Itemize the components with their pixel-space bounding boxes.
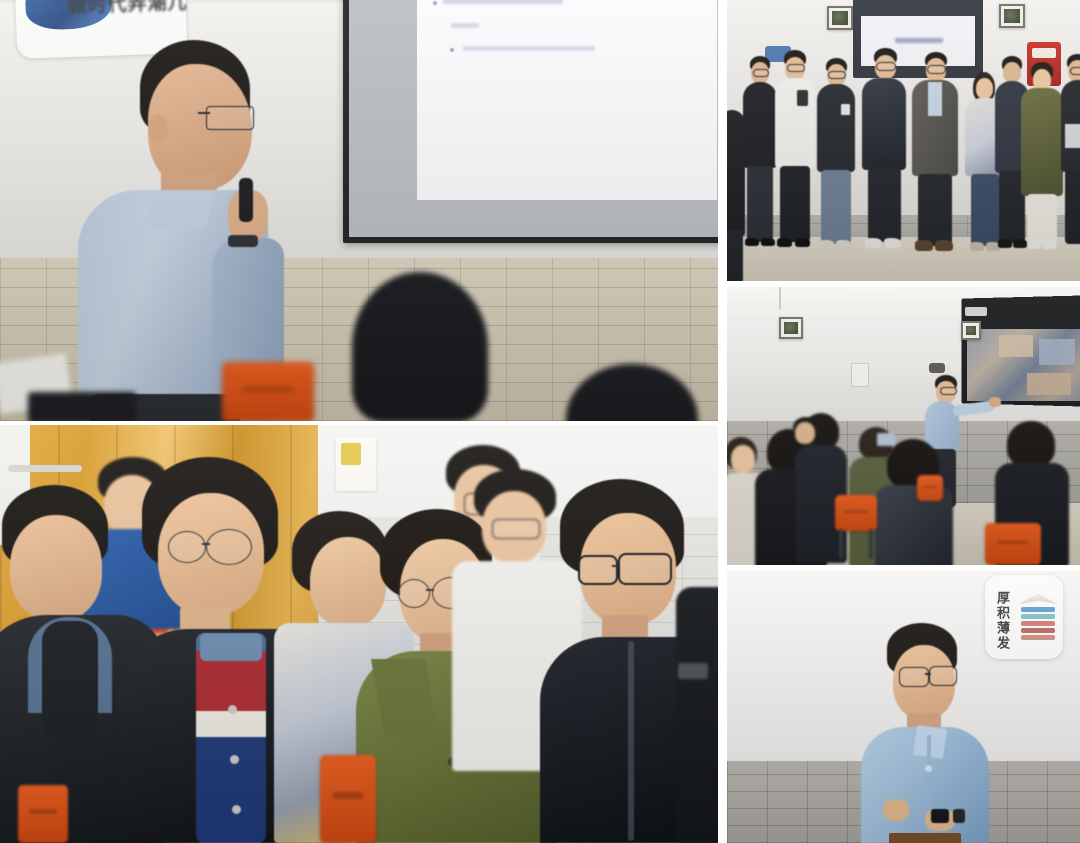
presenter-figure: [56, 22, 356, 421]
presenter-remote: [931, 809, 949, 823]
photo-collage: 做时代弄潮儿: [0, 0, 1080, 843]
student-7: [676, 567, 718, 843]
panel-speaker-closeup[interactable]: 厚积薄发: [727, 571, 1080, 843]
presenter-remote: [239, 178, 253, 222]
projector-screen: [343, 0, 718, 243]
group-person: [1021, 62, 1063, 262]
group-person: [743, 56, 777, 256]
group-person: [1061, 54, 1080, 260]
glasses-icon: [618, 553, 672, 585]
stacked-books-icon: [1021, 593, 1055, 645]
phone-in-hand: [678, 663, 708, 679]
glasses-icon: [206, 529, 252, 565]
panel-group-photo[interactable]: [727, 0, 1080, 281]
closeup-presenter: [867, 623, 997, 843]
glasses-icon: [206, 106, 254, 130]
wall-poster-era-text: 做时代弄潮儿: [67, 0, 188, 17]
classroom-chair: [222, 362, 314, 421]
glasses-icon: [899, 667, 929, 687]
panel-speaker-pointing[interactable]: [727, 287, 1080, 565]
group-person: [775, 50, 815, 258]
door-handle: [8, 465, 82, 472]
panel-speaker-at-lectern[interactable]: 做时代弄潮儿: [0, 0, 718, 421]
panel-audience-students[interactable]: [0, 425, 718, 843]
group-person: [817, 58, 855, 258]
striped-sweater: [196, 633, 266, 843]
group-person: [862, 48, 906, 260]
belt: [889, 833, 961, 843]
group-people-row: [727, 0, 1080, 281]
group-person-presenter: [912, 52, 958, 264]
audience-head-silhouette: [352, 272, 488, 421]
